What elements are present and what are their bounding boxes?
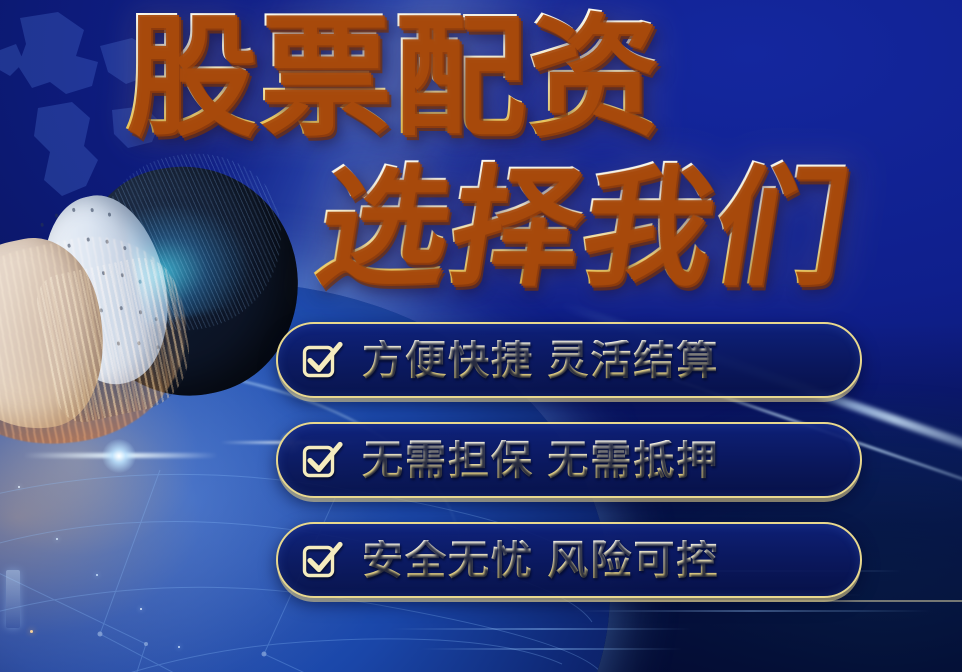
- lens-flare-primary: [118, 455, 120, 457]
- headline-line-1: 股票配资: [124, 6, 660, 146]
- checkbox-checked-icon: [300, 338, 344, 382]
- feature-pill-label: 方便快捷 灵活结算: [362, 340, 719, 381]
- feature-pill-label: 安全无忧 风险可控: [362, 540, 719, 581]
- headline-group: 股票配资 选择我们: [0, 0, 962, 310]
- feature-list: 方便快捷 灵活结算 无需担保 无需抵押 安全无忧 风险可控: [276, 322, 862, 598]
- feature-pill-1[interactable]: 方便快捷 灵活结算: [276, 322, 862, 398]
- gold-hairline: [400, 600, 962, 602]
- checkbox-checked-icon: [300, 538, 344, 582]
- feature-pill-3[interactable]: 安全无忧 风险可控: [276, 522, 862, 598]
- feature-pill-label: 无需担保 无需抵押: [362, 440, 719, 481]
- stock-financing-promo-banner: 股票配资 选择我们 方便快捷 灵活结算 无需担保 无需抵押: [0, 0, 962, 672]
- feature-pill-2[interactable]: 无需担保 无需抵押: [276, 422, 862, 498]
- headline-line-2: 选择我们: [307, 158, 857, 296]
- checkbox-checked-icon: [300, 438, 344, 482]
